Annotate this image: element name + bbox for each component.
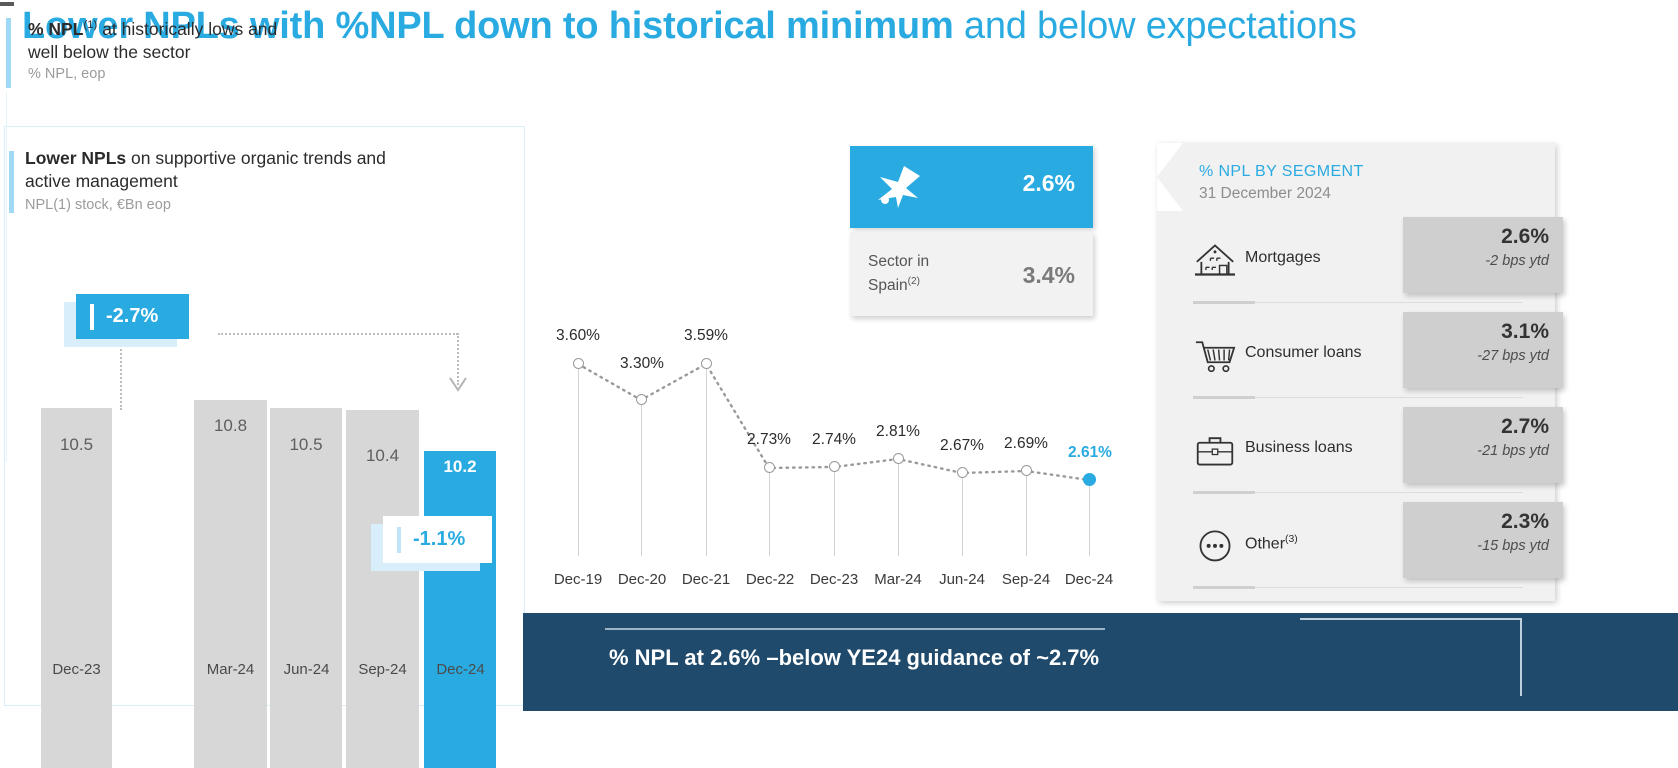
banner-text-b: below YE24 guidance of ~2.7% <box>779 645 1100 670</box>
segment-card-date: 31 December 2024 <box>1199 185 1331 203</box>
kpi-sector-value: 3.4% <box>1023 262 1075 289</box>
connector-horizontal <box>218 333 458 335</box>
line-marker-1 <box>636 394 647 405</box>
caixabank-star-icon <box>872 164 922 210</box>
segment-row-business-loans: Business loans 2.7% -21 bps ytd <box>1185 412 1545 507</box>
briefcase-icon <box>1193 430 1237 470</box>
left-panel-subtitle: NPL(1) stock, €Bn eop <box>25 197 171 213</box>
line-axis-label-7: Sep-24 <box>996 571 1056 588</box>
house-icon <box>1193 240 1237 280</box>
line-marker-5 <box>893 453 904 464</box>
callout-total-text: -2.7% <box>106 305 158 328</box>
segment-rule-other <box>1193 587 1523 588</box>
mid-axis-line <box>6 92 7 462</box>
line-axis-label-2: Dec-21 <box>676 571 736 588</box>
callout-qoq-tick <box>397 527 401 553</box>
segment-value-mortgages: 2.6% <box>1501 225 1549 249</box>
kpi-bank-value: 2.6% <box>1023 170 1075 197</box>
card-notch-top <box>1157 143 1183 177</box>
line-axis-label-3: Dec-22 <box>740 571 800 588</box>
line-axis-label-5: Mar-24 <box>868 571 928 588</box>
cart-icon <box>1193 335 1237 375</box>
bar-value-sep-24: 10.4 <box>346 446 419 466</box>
bar-axis-label-4: Dec-24 <box>415 661 506 678</box>
line-marker-6 <box>957 467 968 478</box>
callout-total-change: -2.7% <box>76 294 189 339</box>
bar-axis-label-0: Dec-23 <box>31 661 122 678</box>
bar-dec-24 <box>424 451 496 768</box>
callout-qoq-change: -1.1% <box>383 516 492 563</box>
segment-row-mortgages: Mortgages 2.6% -2 bps ytd <box>1185 222 1545 317</box>
segment-rule-consumer-loans <box>1193 397 1523 398</box>
mid-heading-sup: (1) <box>83 19 97 31</box>
card-notch-bottom <box>1157 177 1183 211</box>
banner-text-a: % NPL at 2.6% – <box>609 645 779 670</box>
segment-value-consumer-loans: 3.1% <box>1501 320 1549 344</box>
line-axis-label-6: Jun-24 <box>932 571 992 588</box>
segment-rule-business-loans <box>1193 492 1523 493</box>
kpi-sector-npl: Sector in Spain(2) 3.4% <box>850 232 1093 316</box>
line-marker-0 <box>573 358 584 369</box>
kpi-sector-sup: (2) <box>908 276 920 287</box>
left-heading-bold: Lower NPLs <box>25 148 126 168</box>
segment-delta-other: -15 bps ytd <box>1477 538 1549 554</box>
segment-rule-mortgages <box>1193 302 1523 303</box>
line-marker-3 <box>764 462 775 473</box>
arrow-down-icon <box>449 377 467 395</box>
banner-corner-frame <box>1300 618 1522 696</box>
bar-value-dec-24: 10.2 <box>424 457 496 477</box>
npl-stock-panel: Lower NPLs on supportive organic trends … <box>4 126 525 706</box>
segment-value-business-loans: 2.7% <box>1501 415 1549 439</box>
bar-mar-24 <box>194 400 267 768</box>
banner-text: % NPL at 2.6% –below YE24 guidance of ~2… <box>609 645 1099 671</box>
line-value-2: 3.59% <box>656 327 756 345</box>
kpi-sector-label-line2: Spain <box>868 277 908 294</box>
line-marker-8 <box>1083 473 1096 486</box>
segment-delta-business-loans: -21 bps ytd <box>1477 443 1549 459</box>
line-marker-2 <box>701 358 712 369</box>
segment-name-other: Other(3) <box>1245 534 1298 553</box>
line-axis-label-0: Dec-19 <box>548 571 608 588</box>
mid-panel-heading: % NPL(1) at historically lows and well b… <box>28 14 308 64</box>
bar-value-mar-24: 10.8 <box>194 416 267 436</box>
line-value-1: 3.30% <box>592 355 692 373</box>
bar-jun-24 <box>270 408 342 768</box>
kpi-sector-label-line1: Sector in <box>868 253 929 270</box>
segment-name-consumer-loans: Consumer loans <box>1245 344 1362 362</box>
bar-value-dec-23: 10.5 <box>41 435 112 455</box>
line-value-8: 2.61% <box>1040 444 1140 462</box>
segment-row-other: Other(3) 2.3% -15 bps ytd <box>1185 507 1545 602</box>
segment-delta-consumer-loans: -27 bps ytd <box>1477 348 1549 364</box>
mid-heading-bold: % NPL <box>28 19 83 39</box>
line-axis-label-4: Dec-23 <box>804 571 864 588</box>
segment-name-other-text: Other <box>1245 535 1285 552</box>
line-marker-7 <box>1021 465 1032 476</box>
segment-value-box-consumer-loans: 3.1% -27 bps ytd <box>1403 312 1563 388</box>
segment-name-business-loans: Business loans <box>1245 439 1353 457</box>
segment-value-box-business-loans: 2.7% -21 bps ytd <box>1403 407 1563 483</box>
page-title-light: and below expectations <box>954 5 1357 47</box>
segment-value-box-other: 2.3% -15 bps ytd <box>1403 502 1563 578</box>
kpi-sector-label: Sector in Spain(2) <box>868 252 929 296</box>
mid-kicker-bar <box>6 18 11 88</box>
callout-qoq-text: -1.1% <box>413 528 465 551</box>
left-kicker-bar <box>9 151 14 213</box>
dots-icon <box>1193 525 1237 565</box>
line-axis-label-8: Dec-24 <box>1059 571 1119 588</box>
callout-qoq-body: -1.1% <box>383 516 492 563</box>
mid-panel-subtitle: % NPL, eop <box>28 66 105 82</box>
segment-card-title: % NPL BY SEGMENT <box>1199 163 1364 181</box>
callout-total-body: -2.7% <box>76 294 189 339</box>
segment-value-box-mortgages: 2.6% -2 bps ytd <box>1403 217 1563 293</box>
line-marker-4 <box>829 461 840 472</box>
segment-name-other-sup: (3) <box>1285 534 1298 545</box>
banner-underline <box>605 628 1105 630</box>
kpi-bank-npl: 2.6% <box>850 146 1093 228</box>
line-axis-label-1: Dec-20 <box>612 571 672 588</box>
segment-value-other: 2.3% <box>1501 510 1549 534</box>
bar-dec-23 <box>41 408 112 768</box>
line-value-0: 3.60% <box>528 327 628 345</box>
callout-total-tick <box>90 304 94 330</box>
segment-row-consumer-loans: Consumer loans 3.1% -27 bps ytd <box>1185 317 1545 412</box>
segment-delta-mortgages: -2 bps ytd <box>1485 253 1549 269</box>
segment-name-mortgages: Mortgages <box>1245 249 1321 267</box>
connector-left-vertical <box>120 342 122 410</box>
title-accent-mark <box>0 2 14 6</box>
left-panel-heading: Lower NPLs on supportive organic trends … <box>25 147 425 193</box>
bar-value-jun-24: 10.5 <box>270 435 342 455</box>
